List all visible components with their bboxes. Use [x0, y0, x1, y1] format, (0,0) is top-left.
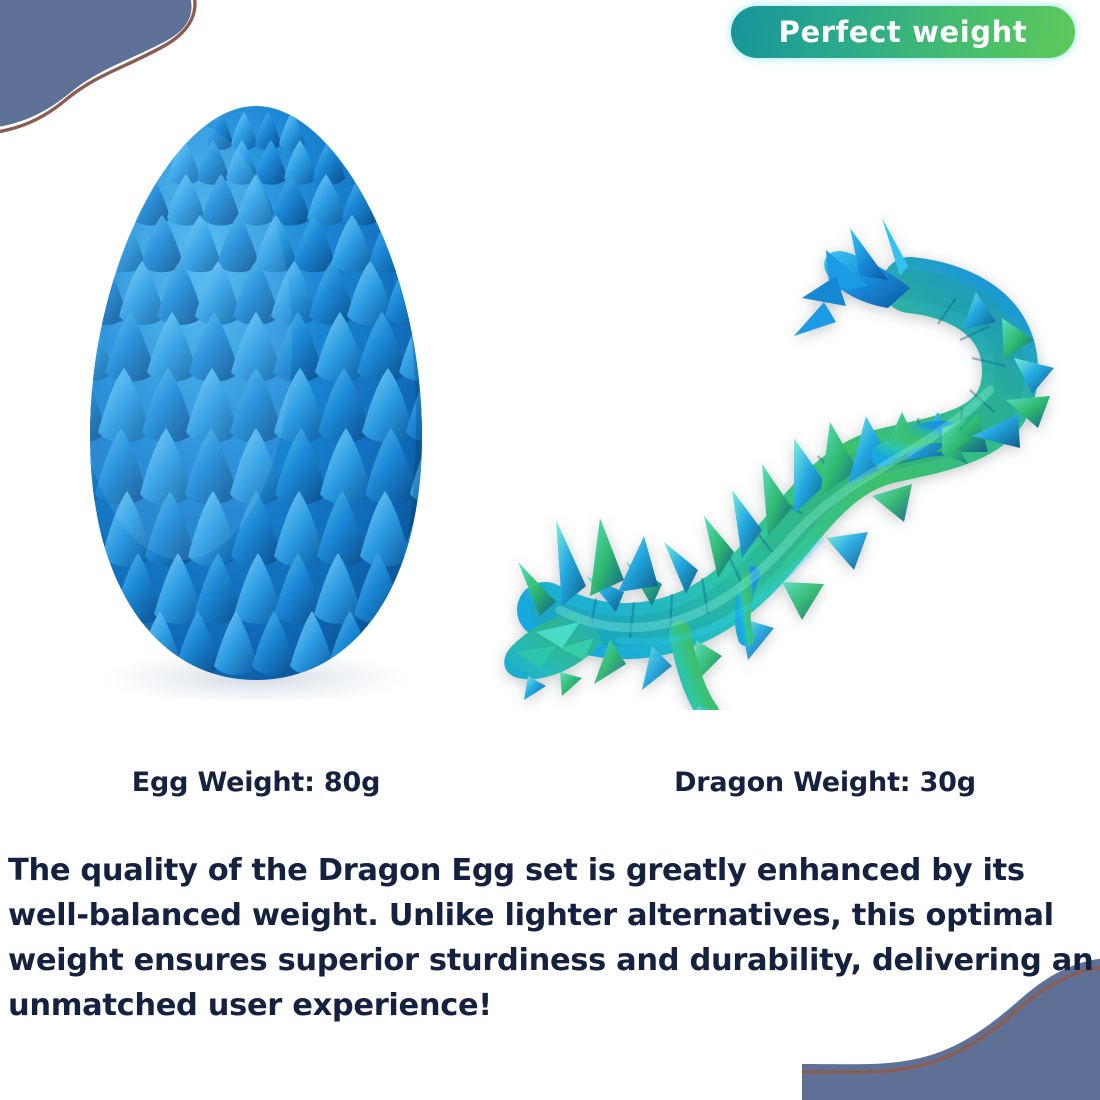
dragon-illustration	[490, 140, 1060, 710]
dragon-horn-right	[590, 518, 624, 596]
egg-weight-caption: Egg Weight: 80g	[0, 767, 512, 798]
egg-illustration	[70, 100, 442, 700]
egg-scale-rows	[70, 100, 442, 700]
infographic-canvas: Perfect weight	[0, 0, 1100, 1100]
perfect-weight-badge: Perfect weight	[731, 6, 1075, 58]
egg-product-image	[70, 100, 442, 700]
description-paragraph: The quality of the Dragon Egg set is gre…	[8, 848, 1094, 1028]
dragon-figure-group	[504, 218, 1054, 710]
dragon-product-image	[490, 140, 1060, 710]
badge-label: Perfect weight	[779, 18, 1028, 47]
dragon-tail-fin	[794, 218, 910, 336]
dragon-weight-caption: Dragon Weight: 30g	[565, 767, 1085, 798]
